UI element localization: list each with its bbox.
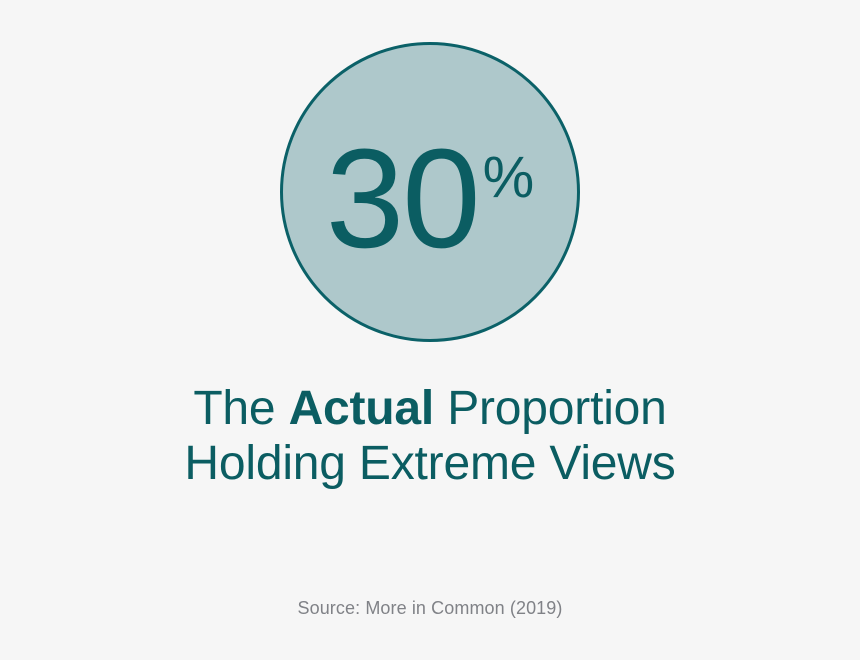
source-attribution: Source: More in Common (2019) bbox=[0, 598, 860, 619]
headline-line-1-prefix: The bbox=[193, 382, 288, 435]
headline-line-2: Holding Extreme Views bbox=[40, 436, 820, 491]
headline-line-1-suffix: Proportion bbox=[434, 382, 667, 435]
infographic-root: 30 % The Actual Proportion Holding Extre… bbox=[0, 0, 860, 660]
stat-circle: 30 % bbox=[280, 42, 580, 342]
headline-emphasis-actual: Actual bbox=[289, 382, 435, 435]
headline-line-1: The Actual Proportion bbox=[40, 381, 820, 436]
stat-number: 30 bbox=[326, 147, 479, 250]
stat-value-row: 30 % bbox=[326, 147, 534, 250]
headline: The Actual Proportion Holding Extreme Vi… bbox=[0, 381, 860, 491]
stat-circle-container: 30 % bbox=[0, 42, 860, 342]
stat-percent-symbol: % bbox=[483, 149, 535, 207]
